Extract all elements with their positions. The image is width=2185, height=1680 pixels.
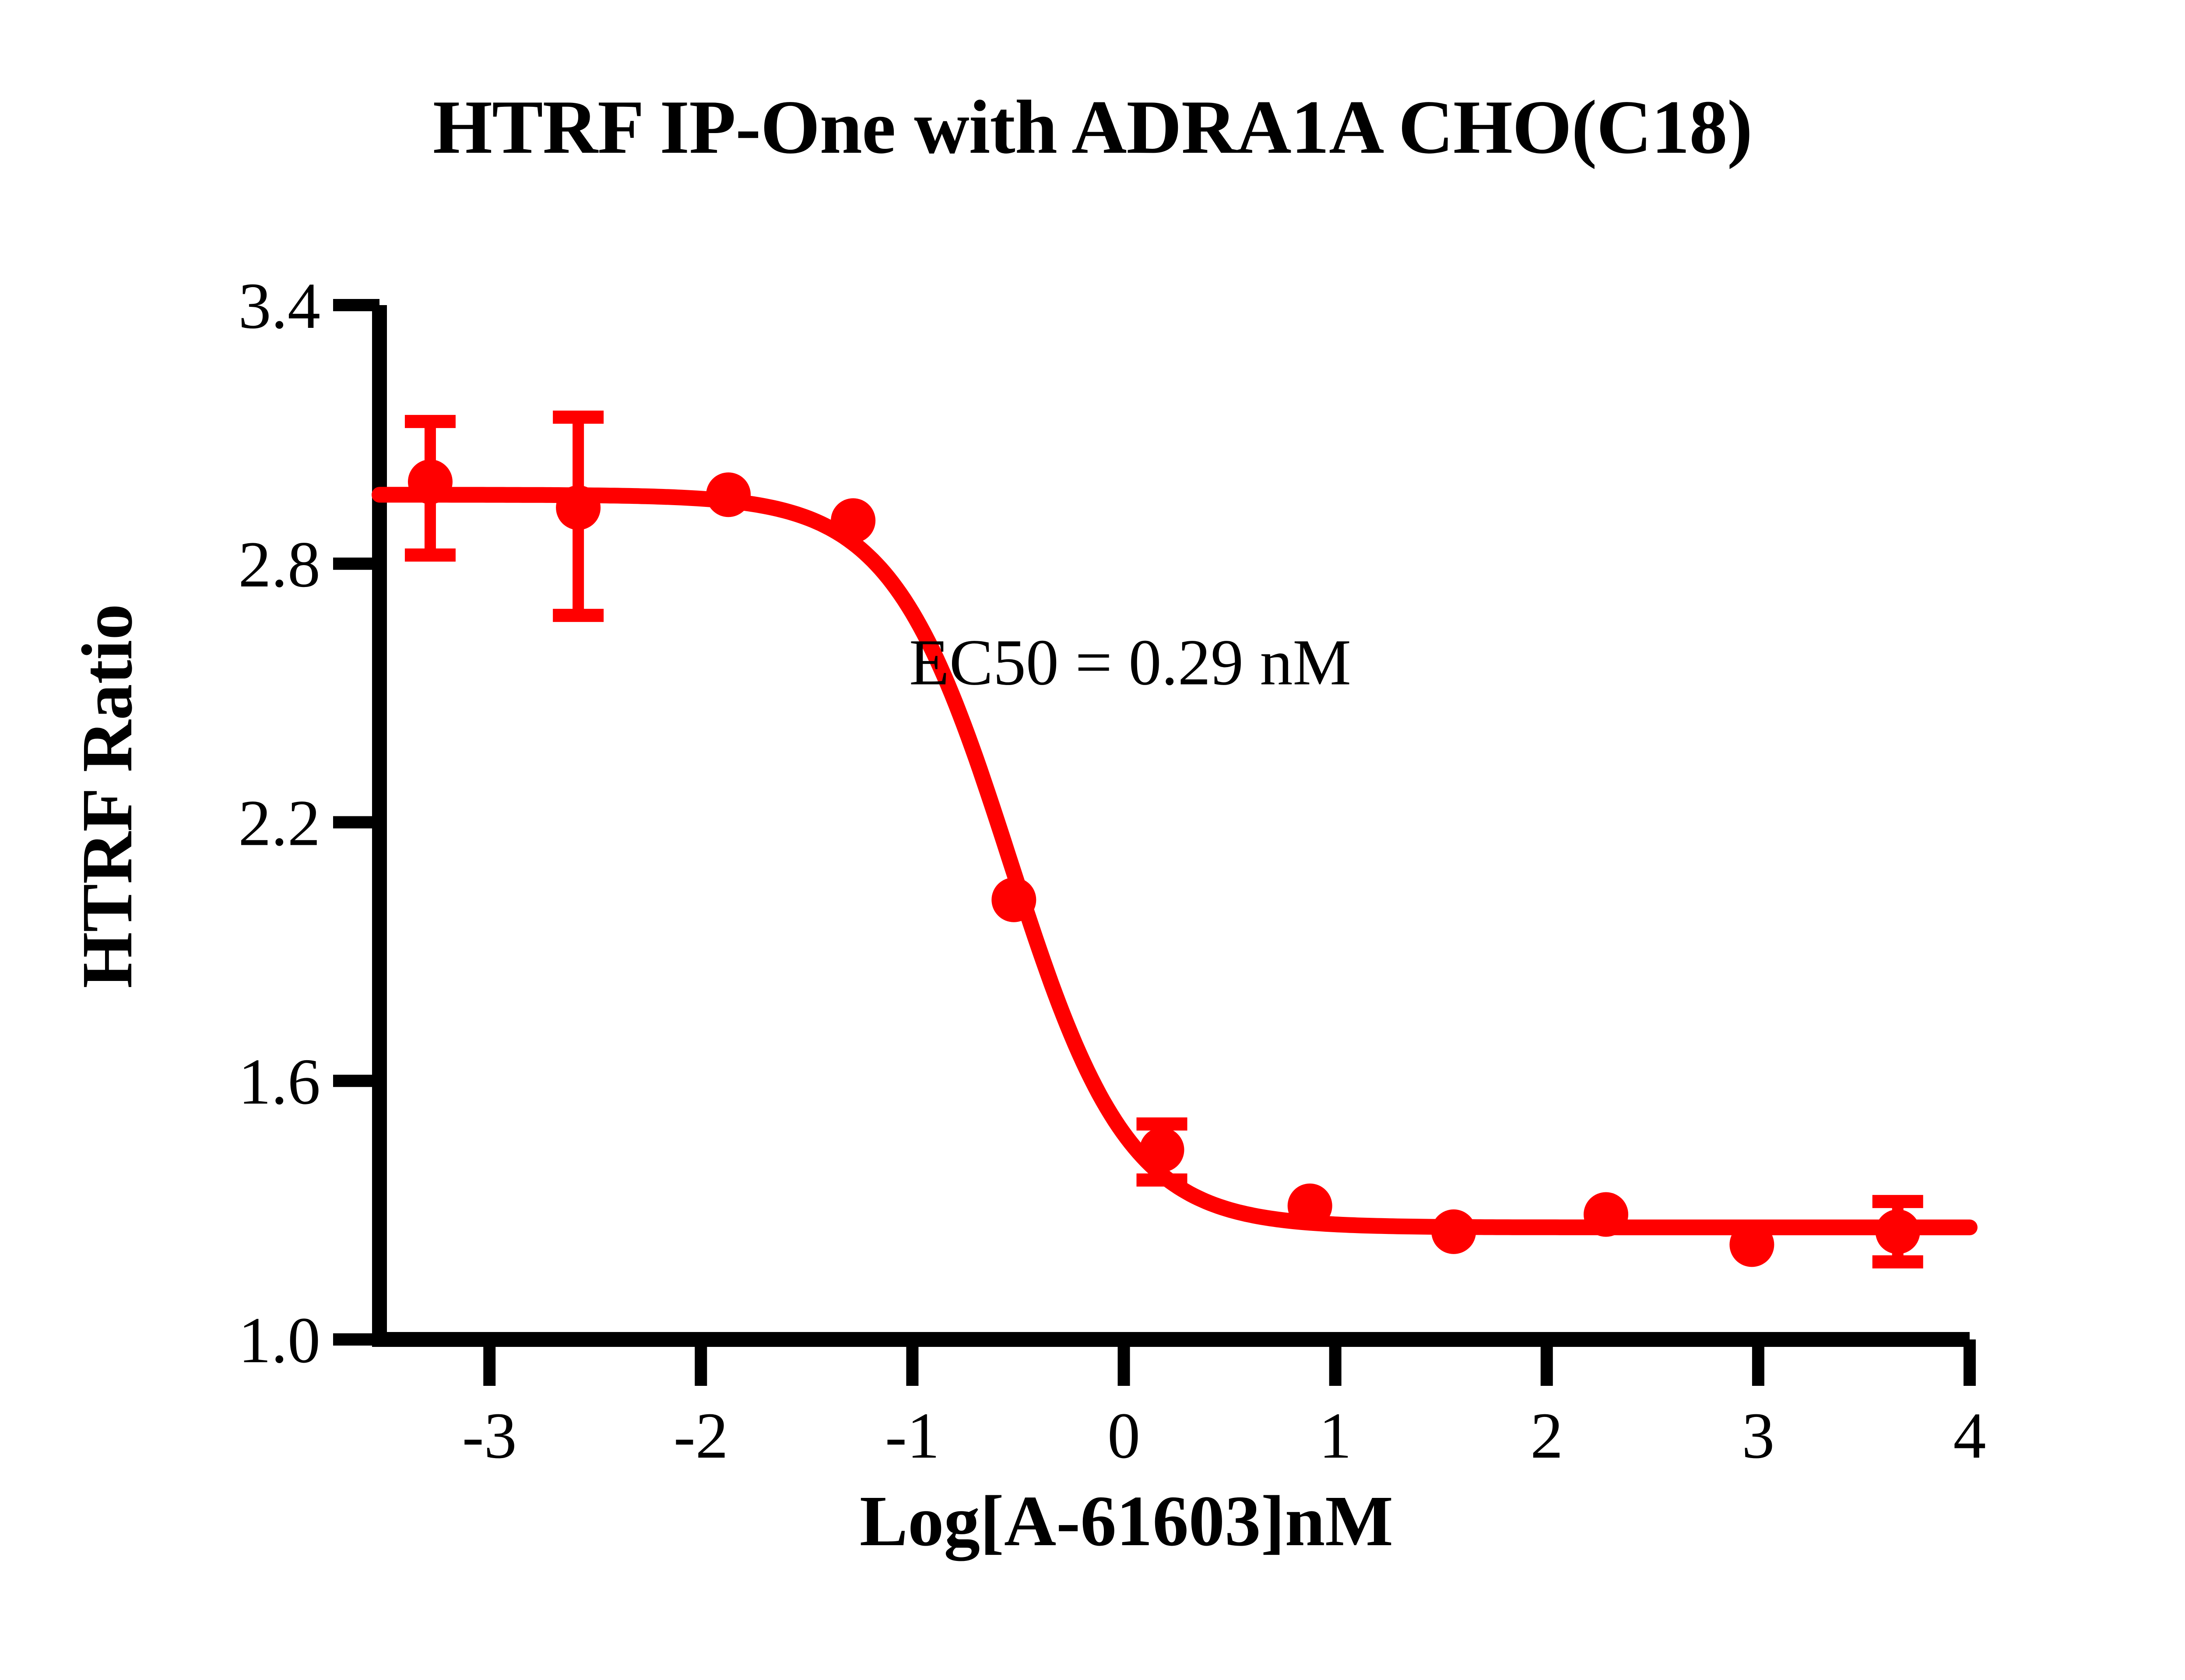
y-axis-title: HTRF Ratio — [67, 604, 147, 988]
data-point-marker — [991, 878, 1036, 922]
y-tick-label-3: 1.6 — [239, 1045, 321, 1118]
x-tick-label-0: -3 — [462, 1399, 517, 1472]
chart-plot-area: 3.42.82.21.61.0 -3-2-101234 EC50 = 0.29 … — [0, 0, 2185, 1680]
y-tick-label-0: 3.4 — [239, 270, 321, 342]
data-point-marker — [1140, 1128, 1184, 1172]
x-tick-label-6: 3 — [1742, 1399, 1774, 1472]
x-tick-label-7: 4 — [1953, 1399, 1986, 1472]
data-point-marker — [556, 485, 601, 530]
y-tick-label-1: 2.8 — [239, 528, 321, 601]
x-tick-label-4: 1 — [1319, 1399, 1352, 1472]
data-point-marker — [706, 472, 751, 517]
data-point-marker — [1431, 1209, 1476, 1254]
x-tick-label-5: 2 — [1530, 1399, 1563, 1472]
y-tick-label-4: 1.0 — [239, 1304, 321, 1377]
x-tick-label-1: -2 — [674, 1399, 728, 1472]
y-tick-label-2: 2.2 — [239, 787, 321, 860]
data-point-marker — [1729, 1222, 1774, 1267]
y-axis-tick-labels: 3.42.82.21.61.0 — [239, 270, 321, 1377]
chart-annotations: EC50 = 0.29 nM — [909, 626, 1351, 699]
ec50-annotation: EC50 = 0.29 nM — [909, 626, 1351, 699]
data-point-marker — [1288, 1184, 1332, 1228]
x-tick-label-3: 0 — [1107, 1399, 1140, 1472]
x-axis-tick-labels: -3-2-101234 — [462, 1399, 1986, 1472]
data-point-marker — [408, 460, 453, 504]
x-tick-label-2: -1 — [885, 1399, 940, 1472]
data-point-marker — [831, 498, 875, 543]
data-point-markers — [408, 460, 1920, 1267]
data-point-marker — [1584, 1192, 1628, 1237]
x-axis-title: Log[A-61603]nM — [860, 1481, 1393, 1561]
chart-figure: HTRF IP-One with ADRA1A CHO(C18) 3.42.82… — [0, 0, 2185, 1680]
data-point-marker — [1876, 1209, 1920, 1254]
